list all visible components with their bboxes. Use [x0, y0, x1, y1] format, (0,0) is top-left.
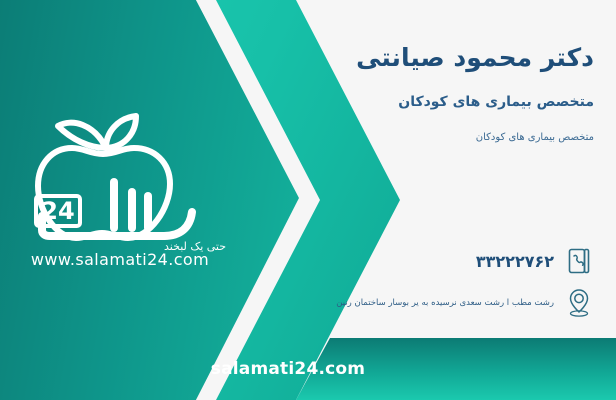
address-text: رشت مطب ا رشت سعدی نرسیده به یر بوسار سا…	[304, 297, 554, 310]
contact-row-phone[interactable]: ۳۳۲۲۲۷۶۲	[304, 244, 594, 278]
stem-swirl-icon	[58, 123, 106, 148]
phone-number: ۳۳۲۲۲۷۶۲	[304, 252, 554, 271]
apple-logo-icon: 24 براحتی یک لبخند	[14, 104, 226, 254]
badge-24-label: 24	[41, 197, 74, 225]
phonebook-icon	[564, 244, 594, 278]
location-pin-icon	[564, 286, 594, 320]
specialty-primary: متخصص بیماری های کودکان	[286, 93, 594, 113]
script-tail	[164, 212, 192, 236]
business-card: 24 براحتی یک لبخند www.salamati24.com دک…	[0, 0, 616, 400]
doctor-name: دکتر محمود صیانتی	[286, 42, 594, 73]
contact-info: ۳۳۲۲۲۷۶۲ رشت مطب ا رشت سعدی نرسیده به یر…	[304, 244, 594, 328]
contact-row-address[interactable]: رشت مطب ا رشت سعدی نرسیده به یر بوسار سا…	[304, 286, 594, 320]
leaf-icon	[106, 116, 136, 148]
specialty-secondary: متخصص بیماری های کودکان	[286, 131, 594, 145]
logo-website-url[interactable]: www.salamati24.com	[14, 250, 226, 269]
brand-logo: 24 براحتی یک لبخند www.salamati24.com	[14, 104, 226, 282]
